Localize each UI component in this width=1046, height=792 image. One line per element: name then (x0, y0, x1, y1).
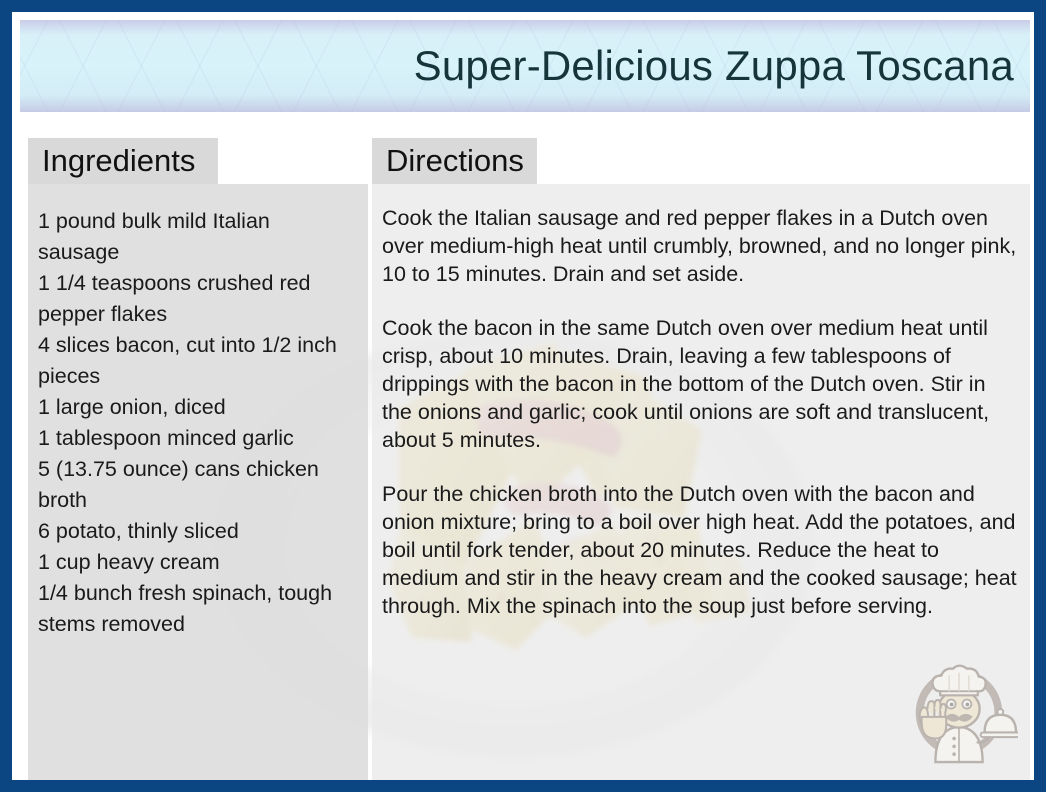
ingredients-list: 1 pound bulk mild Italian sausage 1 1/4 … (38, 206, 354, 640)
directions-steps: Cook the Italian sausage and red pepper … (382, 204, 1018, 620)
list-item: 1 tablespoon minced garlic (38, 423, 354, 454)
list-item: 5 (13.75 ounce) cans chicken broth (38, 454, 354, 516)
ingredients-panel: 1 pound bulk mild Italian sausage 1 1/4 … (28, 184, 368, 780)
direction-step: Cook the bacon in the same Dutch oven ov… (382, 314, 1018, 454)
list-item: 1 1/4 teaspoons crushed red pepper flake… (38, 268, 354, 330)
list-item: 1/4 bunch fresh spinach, tough stems rem… (38, 578, 354, 640)
list-item: 4 slices bacon, cut into 1/2 inch pieces (38, 330, 354, 392)
list-item: 1 pound bulk mild Italian sausage (38, 206, 354, 268)
direction-step: Pour the chicken broth into the Dutch ov… (382, 480, 1018, 620)
list-item: 1 cup heavy cream (38, 547, 354, 578)
title-banner: Super-Delicious Zuppa Toscana (20, 20, 1030, 112)
list-item: 6 potato, thinly sliced (38, 516, 354, 547)
direction-step: Cook the Italian sausage and red pepper … (382, 204, 1018, 288)
directions-panel: Cook the Italian sausage and red pepper … (372, 184, 1030, 780)
directions-heading: Directions (372, 138, 537, 184)
page-title: Super-Delicious Zuppa Toscana (414, 42, 1014, 90)
ingredients-heading: Ingredients (28, 138, 218, 184)
recipe-card-inner: Super-Delicious Zuppa Toscana Ingredient… (12, 12, 1034, 780)
list-item: 1 large onion, diced (38, 392, 354, 423)
recipe-card: Super-Delicious Zuppa Toscana Ingredient… (0, 0, 1046, 792)
